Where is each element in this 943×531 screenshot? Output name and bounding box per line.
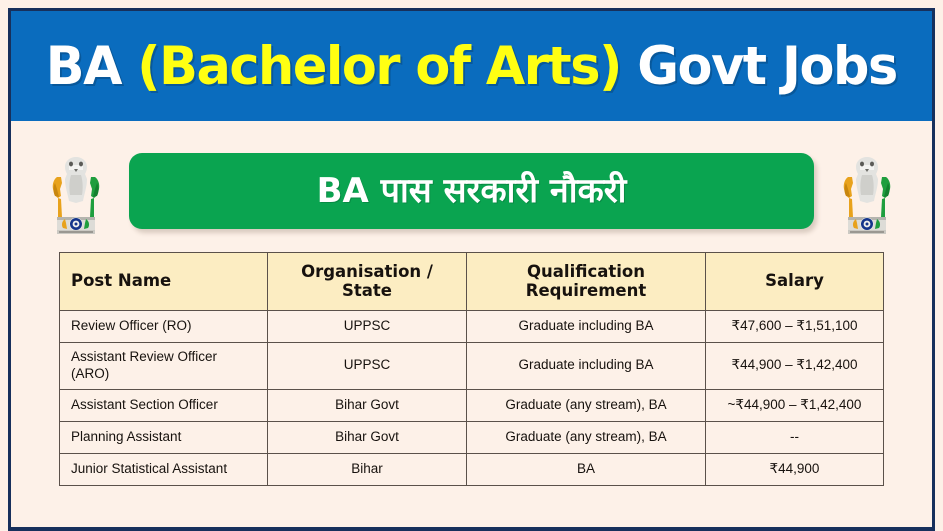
cell-organisation: Bihar	[268, 453, 467, 485]
jobs-table-wrapper: Post Name Organisation / State Qualifica…	[59, 252, 883, 486]
cell-salary: ₹44,900 – ₹1,42,400	[706, 343, 884, 390]
cell-qualification: Graduate including BA	[467, 311, 706, 343]
table-row: Assistant Section Officer Bihar Govt Gra…	[60, 389, 884, 421]
column-header-post-name: Post Name	[60, 253, 268, 311]
table-header-row: Post Name Organisation / State Qualifica…	[60, 253, 884, 311]
cell-qualification: BA	[467, 453, 706, 485]
subtitle-banner: BA पास सरकारी नौकरी	[129, 153, 814, 229]
cell-salary: ₹47,600 – ₹1,51,100	[706, 311, 884, 343]
cell-organisation: Bihar Govt	[268, 421, 467, 453]
jobs-table: Post Name Organisation / State Qualifica…	[59, 252, 884, 486]
column-header-organisation: Organisation / State	[268, 253, 467, 311]
poster-body: BA पास सरकारी नौकरी	[11, 121, 932, 527]
cell-salary: ~₹44,900 – ₹1,42,400	[706, 389, 884, 421]
page-title-part-2: Govt Jobs	[621, 36, 897, 97]
cell-post-name: Assistant Section Officer	[60, 389, 268, 421]
table-row: Junior Statistical Assistant Bihar BA ₹4…	[60, 453, 884, 485]
cell-organisation: Bihar Govt	[268, 389, 467, 421]
page-title-highlight: (Bachelor of Arts)	[138, 36, 622, 97]
table-row: Review Officer (RO) UPPSC Graduate inclu…	[60, 311, 884, 343]
header-banner: BA (Bachelor of Arts) Govt Jobs	[11, 11, 932, 121]
cell-qualification: Graduate including BA	[467, 343, 706, 390]
table-body: Review Officer (RO) UPPSC Graduate inclu…	[60, 311, 884, 486]
cell-post-name: Planning Assistant	[60, 421, 268, 453]
cell-post-name: Review Officer (RO)	[60, 311, 268, 343]
cell-post-name: Junior Statistical Assistant	[60, 453, 268, 485]
subtitle-banner-row: BA पास सरकारी नौकरी	[11, 137, 932, 245]
cell-salary: --	[706, 421, 884, 453]
india-national-emblem-icon	[836, 143, 898, 239]
column-header-qualification: Qualification Requirement	[467, 253, 706, 311]
table-header: Post Name Organisation / State Qualifica…	[60, 253, 884, 311]
column-header-salary: Salary	[706, 253, 884, 311]
cell-qualification: Graduate (any stream), BA	[467, 389, 706, 421]
table-row: Assistant Review Officer (ARO) UPPSC Gra…	[60, 343, 884, 390]
subtitle-banner-text: BA पास सरकारी नौकरी	[317, 174, 627, 208]
infographic-root: BA (Bachelor of Arts) Govt Jobs	[0, 0, 943, 531]
cell-salary: ₹44,900	[706, 453, 884, 485]
cell-organisation: UPPSC	[268, 343, 467, 390]
page-title-part-1: BA	[46, 36, 138, 97]
poster-card: BA (Bachelor of Arts) Govt Jobs	[8, 8, 935, 531]
cell-qualification: Graduate (any stream), BA	[467, 421, 706, 453]
table-row: Planning Assistant Bihar Govt Graduate (…	[60, 421, 884, 453]
india-national-emblem-icon	[45, 143, 107, 239]
cell-post-name: Assistant Review Officer (ARO)	[60, 343, 268, 390]
cell-organisation: UPPSC	[268, 311, 467, 343]
page-title: BA (Bachelor of Arts) Govt Jobs	[46, 40, 897, 93]
